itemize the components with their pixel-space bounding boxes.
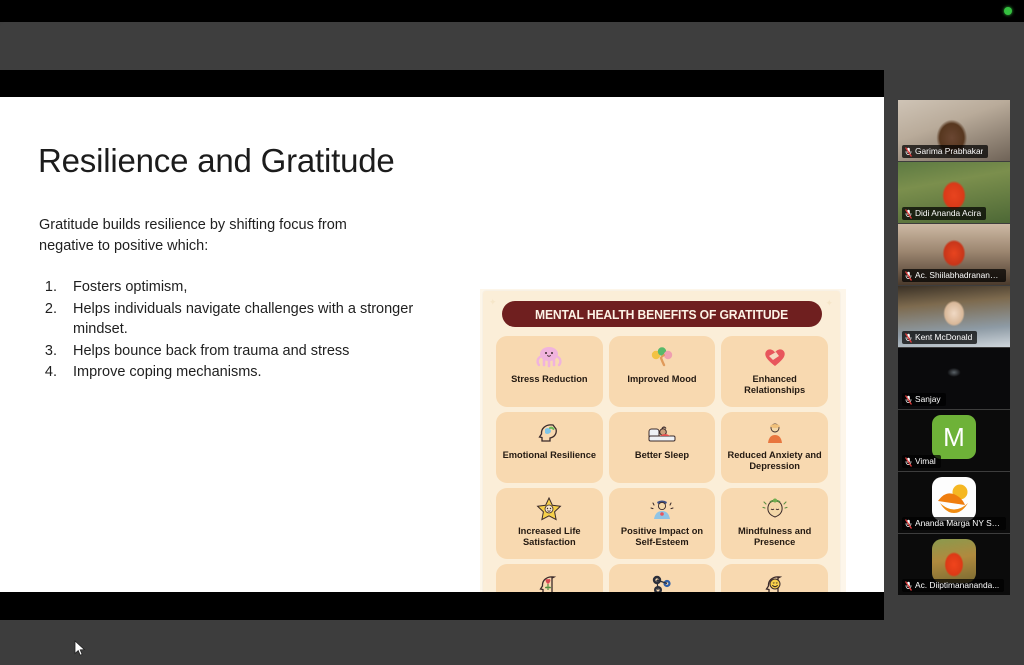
benefit-label: Emotional Resilience: [500, 450, 600, 461]
benefit-label: Enhanced Relationships: [721, 374, 828, 396]
benefit-cell: Reduced Anxiety and Depression: [721, 412, 828, 483]
head-heart-flower-icon: [536, 570, 562, 592]
participant-name-badge: Kent McDonald: [902, 331, 977, 344]
gratitude-infographic: ✦ ✦ MENTAL HEALTH BENEFITS OF GRATITUDE …: [480, 289, 846, 592]
benefit-cell: Positive Impact on Self-Esteem: [609, 488, 716, 559]
window-toolbar-band: [0, 22, 1024, 70]
mic-muted-icon: [905, 271, 912, 281]
ananda-marga-logo-icon: [934, 479, 974, 519]
avatar: M: [932, 415, 976, 459]
benefit-cell: Increased Life Satisfaction: [496, 488, 603, 559]
benefit-cell: Alleviation of Negative Emotions: [721, 564, 828, 592]
slide-intro-text: Gratitude builds resilience by shifting …: [39, 215, 389, 257]
mic-muted-icon: [905, 395, 912, 405]
benefit-cell: Mindfulness and Presence: [721, 488, 828, 559]
window-top-black-bar: [0, 0, 1024, 22]
mic-muted-icon: [905, 581, 912, 591]
participant-portrait: [932, 539, 976, 583]
mood-faces-icon: [649, 342, 675, 372]
benefit-label: Improved Mood: [624, 374, 699, 385]
participant-tile[interactable]: Ananda Marga NY Se...: [898, 472, 1010, 533]
octopus-icon: [536, 342, 562, 372]
benefit-cell: Stress Reduction: [496, 336, 603, 407]
participant-name-badge: Ananda Marga NY Se...: [902, 517, 1006, 530]
infographic-panel: ✦ ✦ MENTAL HEALTH BENEFITS OF GRATITUDE …: [483, 291, 840, 592]
participant-tile[interactable]: Ac. Diiptimanananda...: [898, 534, 1010, 595]
participant-tile[interactable]: Kent McDonald: [898, 286, 1010, 347]
participant-name-badge: Ac. Shiilabhadranand...: [902, 269, 1006, 282]
participant-name: Didi Ananda Acira: [915, 208, 981, 219]
list-item: Improve coping mechanisms.: [61, 362, 421, 383]
smiling-head-icon: [762, 570, 788, 592]
sleeping-person-icon: [648, 418, 676, 448]
benefit-cell: Coping Mechanism: [609, 564, 716, 592]
benefit-cell: Improved Mood: [609, 336, 716, 407]
benefit-cell: Enhanced Relationships: [721, 336, 828, 407]
participant-tile[interactable]: Garima Prabhakar: [898, 100, 1010, 161]
benefit-cell: Emotional Resilience: [496, 412, 603, 483]
list-item: Helps bounce back from trauma and stress: [61, 341, 421, 362]
avatar: [932, 539, 976, 583]
participant-name-badge: Vimal: [902, 455, 941, 468]
avatar: [932, 477, 976, 521]
star-face-icon: [536, 494, 562, 524]
participant-tile[interactable]: Sanjay: [898, 348, 1010, 409]
benefit-label: Stress Reduction: [508, 374, 590, 385]
participant-tile[interactable]: M Vimal: [898, 410, 1010, 471]
participant-name-badge: Garima Prabhakar: [902, 145, 988, 158]
participant-name: Vimal: [915, 456, 936, 467]
confident-person-icon: [649, 494, 675, 524]
sparkle-icon: ✦: [489, 297, 497, 308]
participant-name: Ananda Marga NY Se...: [915, 518, 1001, 529]
benefit-cell: Better Sleep: [609, 412, 716, 483]
sparkle-icon: ✦: [825, 298, 833, 309]
slide-bullet-list: Fosters optimism, Helps individuals navi…: [39, 277, 421, 384]
benefit-label: Increased Life Satisfaction: [496, 526, 603, 548]
mouse-cursor: [74, 640, 86, 657]
presentation-slide: Resilience and Gratitude Gratitude build…: [0, 97, 884, 592]
participant-name-badge: Sanjay: [902, 393, 946, 406]
infographic-grid: Stress Reduction Improved Mood: [496, 336, 828, 592]
head-brain-icon: [536, 418, 562, 448]
infographic-banner-title: MENTAL HEALTH BENEFITS OF GRATITUDE: [535, 307, 788, 322]
mic-muted-icon: [905, 519, 912, 529]
heart-hands-icon: [762, 342, 788, 372]
avatar-initial: M: [943, 424, 965, 450]
benefit-cell: Psychological Well-being: [496, 564, 603, 592]
meditating-head-icon: [762, 494, 788, 524]
slide-title: Resilience and Gratitude: [38, 142, 395, 180]
participant-tile[interactable]: Didi Ananda Acira: [898, 162, 1010, 223]
participant-video-strip[interactable]: Garima Prabhakar Didi Ananda Acira Ac. S…: [898, 100, 1010, 596]
mic-muted-icon: [905, 457, 912, 467]
shared-screen-stage: Resilience and Gratitude Gratitude build…: [0, 70, 884, 620]
participant-name: Ac. Shiilabhadranand...: [915, 270, 1001, 281]
participant-name: Kent McDonald: [915, 332, 972, 343]
participant-name-badge: Ac. Diiptimanananda...: [902, 579, 1004, 592]
benefit-label: Mindfulness and Presence: [721, 526, 828, 548]
benefit-label: Positive Impact on Self-Esteem: [609, 526, 716, 548]
participant-name: Garima Prabhakar: [915, 146, 983, 157]
participant-tile[interactable]: Ac. Shiilabhadranand...: [898, 224, 1010, 285]
mic-muted-icon: [905, 333, 912, 343]
participant-name: Sanjay: [915, 394, 941, 405]
participant-name-badge: Didi Ananda Acira: [902, 207, 986, 220]
list-item: Fosters optimism,: [61, 277, 421, 298]
benefit-label: Better Sleep: [632, 450, 692, 461]
recording-indicator-icon: [1004, 7, 1012, 15]
benefit-label: Reduced Anxiety and Depression: [721, 450, 828, 472]
mic-muted-icon: [905, 209, 912, 219]
participant-name: Ac. Diiptimanananda...: [915, 580, 999, 591]
mic-muted-icon: [905, 147, 912, 157]
infographic-banner: MENTAL HEALTH BENEFITS OF GRATITUDE: [502, 301, 822, 327]
calm-person-icon: [763, 418, 787, 448]
meeting-window: Resilience and Gratitude Gratitude build…: [0, 0, 1024, 665]
list-item: Helps individuals navigate challenges wi…: [61, 299, 421, 340]
gears-icon: [649, 570, 675, 592]
